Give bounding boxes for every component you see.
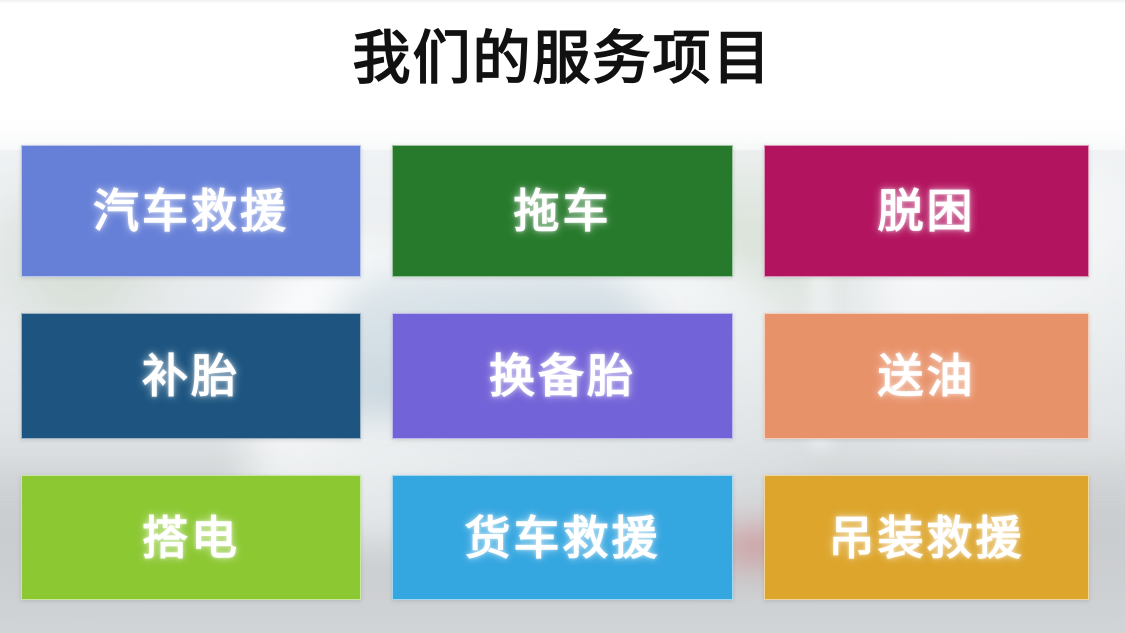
service-tile-label: 脱困 <box>878 188 976 234</box>
service-tile-label: 汽车救援 <box>93 188 289 234</box>
service-tile-hoisting-rescue[interactable]: 吊装救援 <box>764 475 1089 600</box>
service-tile-label: 拖车 <box>514 188 612 234</box>
service-tile-label: 吊装救援 <box>829 515 1025 561</box>
service-tile-label: 换备胎 <box>489 353 636 399</box>
service-tile-grid: 汽车救援 拖车 脱困 补胎 换备胎 送油 搭电 货车救援 吊装救援 <box>21 145 1087 600</box>
service-tile-extrication[interactable]: 脱困 <box>764 145 1089 277</box>
service-tile-spare-tire[interactable]: 换备胎 <box>392 313 733 439</box>
service-tile-tire-repair[interactable]: 补胎 <box>21 313 361 439</box>
service-tile-tow-truck[interactable]: 拖车 <box>392 145 733 277</box>
top-edge-line <box>0 0 1125 4</box>
service-tile-label: 送油 <box>878 353 976 399</box>
service-tile-jump-start[interactable]: 搭电 <box>21 475 361 600</box>
service-tile-label: 货车救援 <box>465 515 661 561</box>
page-title: 我们的服务项目 <box>0 22 1125 96</box>
service-tile-fuel-delivery[interactable]: 送油 <box>764 313 1089 439</box>
service-tile-label: 补胎 <box>142 353 240 399</box>
service-tile-truck-rescue[interactable]: 货车救援 <box>392 475 733 600</box>
service-tile-car-rescue[interactable]: 汽车救援 <box>21 145 361 277</box>
service-tile-label: 搭电 <box>142 515 240 561</box>
service-poster: 我们的服务项目 汽车救援 拖车 脱困 补胎 换备胎 送油 搭电 货车救援 吊装救… <box>0 0 1125 633</box>
